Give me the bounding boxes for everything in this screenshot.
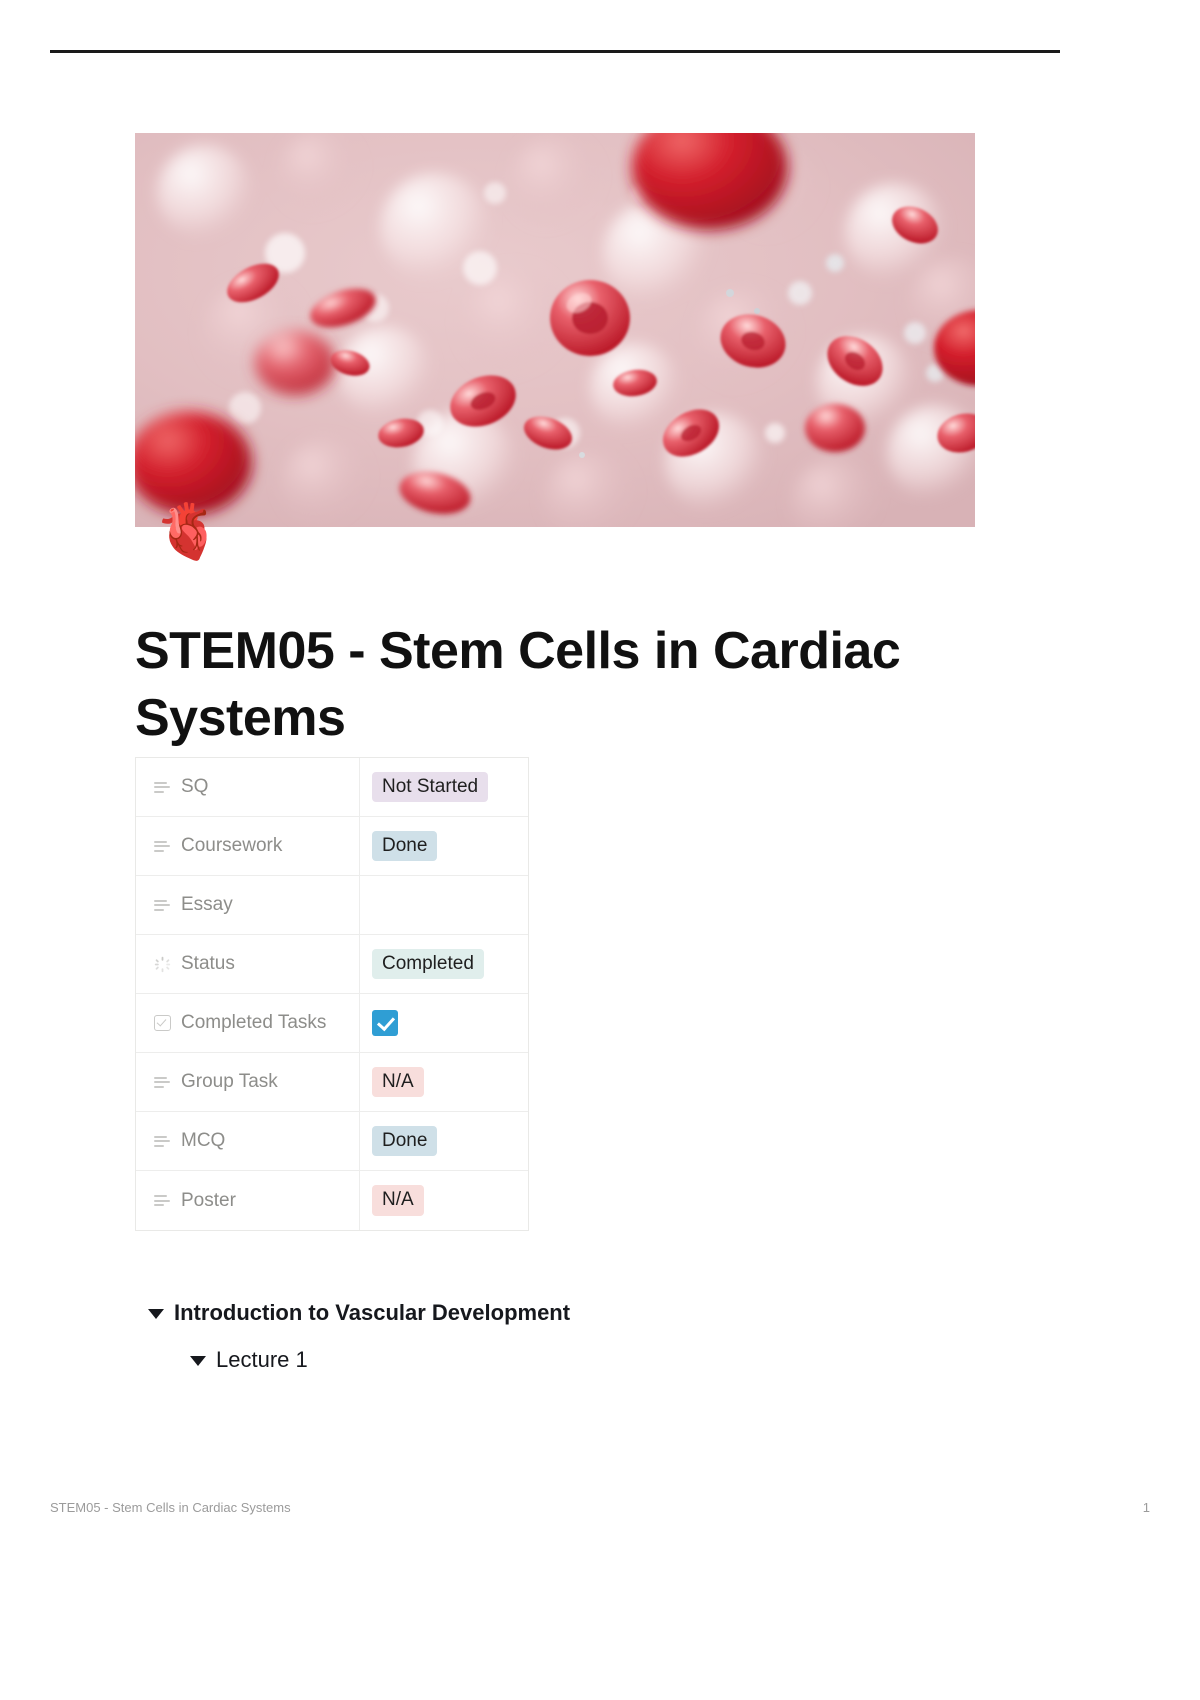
footer-page-number: 1	[1143, 1500, 1150, 1515]
page-title: STEM05 - Stem Cells in Cardiac Systems	[135, 618, 1005, 753]
checkbox-checked[interactable]	[372, 1010, 398, 1036]
table-row[interactable]: Completed Tasks	[136, 994, 528, 1053]
status-badge: Done	[372, 831, 437, 862]
property-value[interactable]: Done	[360, 1112, 528, 1170]
table-row[interactable]: Coursework Done	[136, 817, 528, 876]
footer-document-name: STEM05 - Stem Cells in Cardiac Systems	[50, 1500, 291, 1515]
property-value[interactable]	[360, 994, 528, 1052]
status-badge: Completed	[372, 949, 484, 980]
property-value[interactable]: N/A	[360, 1053, 528, 1111]
property-value-empty[interactable]	[360, 876, 528, 934]
select-list-icon	[154, 838, 171, 855]
property-label: Coursework	[181, 835, 282, 857]
page: 🫀 STEM05 - Stem Cells in Cardiac Systems…	[0, 0, 1200, 1700]
table-row[interactable]: Group Task N/A	[136, 1053, 528, 1112]
property-label: Completed Tasks	[181, 1012, 326, 1034]
triangle-down-icon[interactable]	[148, 1309, 164, 1319]
heart-icon: 🫀	[154, 501, 216, 563]
property-table: SQ Not Started Coursework Done Essay	[135, 757, 529, 1231]
property-value[interactable]: N/A	[360, 1172, 528, 1230]
status-badge: N/A	[372, 1067, 424, 1098]
property-value[interactable]: Not Started	[360, 758, 528, 816]
select-list-icon	[154, 779, 171, 796]
property-key[interactable]: Essay	[136, 876, 360, 934]
table-row[interactable]: SQ Not Started	[136, 758, 528, 817]
property-label: Essay	[181, 894, 233, 916]
property-key[interactable]: SQ	[136, 758, 360, 816]
toggle-lecture-1[interactable]: Lecture 1	[190, 1347, 308, 1373]
status-badge: N/A	[372, 1185, 424, 1216]
property-label: MCQ	[181, 1130, 225, 1152]
blood-cells-illustration	[135, 133, 975, 527]
select-list-icon	[154, 1133, 171, 1150]
cover-image-wrap: 🫀	[135, 133, 975, 527]
table-row[interactable]: Poster N/A	[136, 1171, 528, 1230]
property-key[interactable]: Poster	[136, 1171, 360, 1230]
property-value[interactable]: Done	[360, 817, 528, 875]
cover-image	[135, 133, 975, 527]
property-label: Poster	[181, 1190, 236, 1212]
property-key[interactable]: Status	[136, 935, 360, 993]
status-badge: Done	[372, 1126, 437, 1157]
triangle-down-icon[interactable]	[190, 1356, 206, 1366]
page-footer: STEM05 - Stem Cells in Cardiac Systems 1	[50, 1500, 1150, 1515]
status-badge: Not Started	[372, 772, 488, 803]
property-label: SQ	[181, 776, 208, 798]
table-row[interactable]: Status Completed	[136, 935, 528, 994]
status-icon	[154, 956, 171, 973]
property-label: Group Task	[181, 1071, 278, 1093]
property-key[interactable]: Coursework	[136, 817, 360, 875]
select-list-icon	[154, 1074, 171, 1091]
checkbox-icon	[154, 1015, 171, 1031]
select-list-icon	[154, 1192, 171, 1209]
toggle-label: Lecture 1	[216, 1347, 308, 1373]
select-list-icon	[154, 897, 171, 914]
property-key[interactable]: Group Task	[136, 1053, 360, 1111]
property-label: Status	[181, 953, 235, 975]
toggle-introduction-to-vascular-development[interactable]: Introduction to Vascular Development	[148, 1300, 570, 1326]
header-rule	[50, 50, 1060, 53]
property-value[interactable]: Completed	[360, 935, 528, 993]
property-key[interactable]: MCQ	[136, 1112, 360, 1170]
table-row[interactable]: MCQ Done	[136, 1112, 528, 1171]
table-row[interactable]: Essay	[136, 876, 528, 935]
toggle-label: Introduction to Vascular Development	[174, 1300, 570, 1326]
property-key[interactable]: Completed Tasks	[136, 994, 360, 1052]
